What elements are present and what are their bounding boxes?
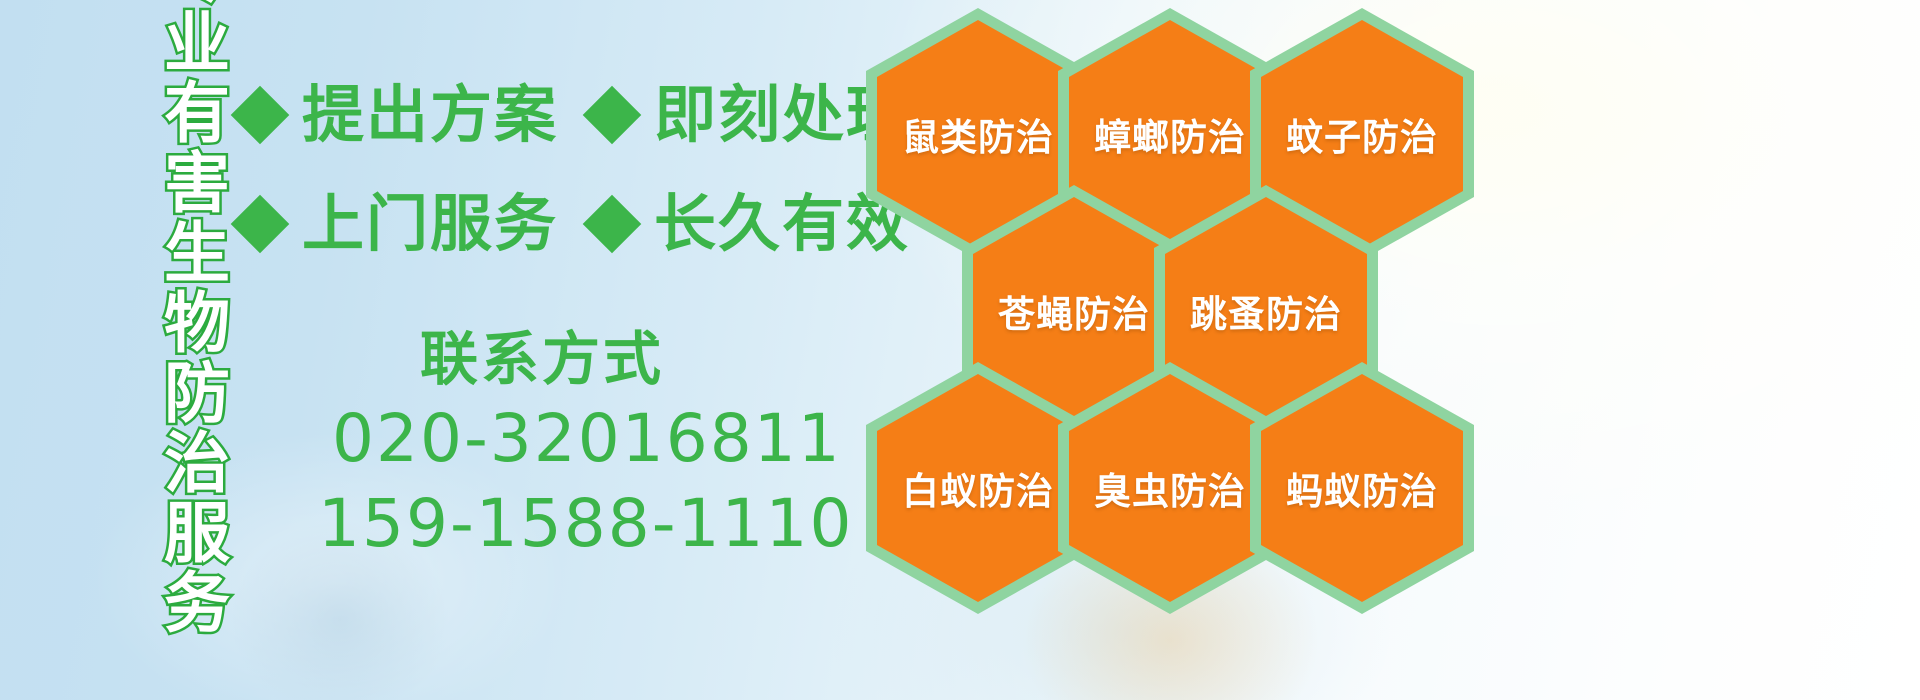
hex-label: 臭虫防治 (1058, 362, 1282, 614)
hex-cell-ant-control[interactable]: 蚂蚁防治 (1250, 362, 1474, 614)
hex-cell-bedbug-control[interactable]: 臭虫防治 (1058, 362, 1282, 614)
honeycomb-service-grid: 鼠类防治 蟑螂防治 蚊子防治 苍蝇防治 跳蚤防治 白蚁防治 (0, 0, 1920, 700)
hex-label: 蚂蚁防治 (1250, 362, 1474, 614)
pest-control-banner: 专业有害生物防治服务 提出方案 即刻处理 上门服务 长久有效 联系方式 020-… (0, 0, 1920, 700)
hex-cell-termite-control[interactable]: 白蚁防治 (866, 362, 1090, 614)
hex-label: 白蚁防治 (866, 362, 1090, 614)
